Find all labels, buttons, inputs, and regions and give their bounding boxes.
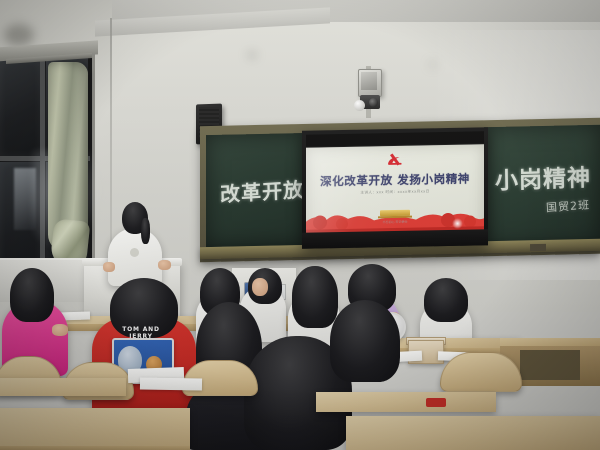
slide-subtitle: 主讲人：xxx 时间：xxxx年xx月xx日: [306, 188, 484, 196]
student-pink-hair: [10, 268, 54, 322]
desk-edge: [0, 446, 190, 450]
ledge-clip: [530, 244, 546, 251]
slide-title: 深化改革开放 发扬小岗精神: [306, 170, 484, 189]
presenter-hair-side: [141, 218, 150, 244]
projector-ball-joint: [354, 100, 365, 111]
tiananmen-gate-icon: [380, 210, 410, 217]
student-pink-arm: [52, 324, 68, 336]
chalk-text-left: 改革开放: [214, 173, 311, 208]
ceiling-smudge: [4, 24, 34, 46]
presenter-shirt-logo: [130, 248, 139, 257]
student-chair: [440, 352, 522, 392]
student-desk: [0, 408, 190, 450]
student-desk: [346, 416, 600, 450]
communist-party-emblem-icon: [382, 150, 408, 170]
student-dark-hair-right: [330, 300, 400, 382]
wall-mark: [248, 52, 256, 58]
papers: [140, 377, 202, 390]
shelf-opening: [520, 350, 580, 380]
wall-mark-2: [430, 62, 436, 67]
classroom-photo: 改革开放 小岗精神 国贸2班 深化改革开放 发扬小岗精神 主讲人：xxx 时间：…: [0, 0, 600, 450]
screen-hotspot: [452, 218, 463, 229]
projector-face: [361, 72, 377, 90]
presenter-body: [108, 228, 162, 286]
window-pane-upper-left: [0, 60, 40, 156]
chalk-text-right: 小岗精神: [488, 158, 599, 196]
presenter-hand-left: [103, 262, 115, 272]
student-far-right-hair: [424, 278, 468, 322]
window-reflection: [14, 168, 36, 230]
camera-lens-icon: [369, 98, 378, 107]
student-white-right-hair: [292, 266, 338, 328]
desk-red-label: [426, 398, 446, 407]
presenter-hand-right: [158, 260, 171, 270]
student-desk: [316, 392, 496, 412]
student-desk: [0, 378, 126, 396]
student-white-center-neck: [252, 278, 268, 296]
